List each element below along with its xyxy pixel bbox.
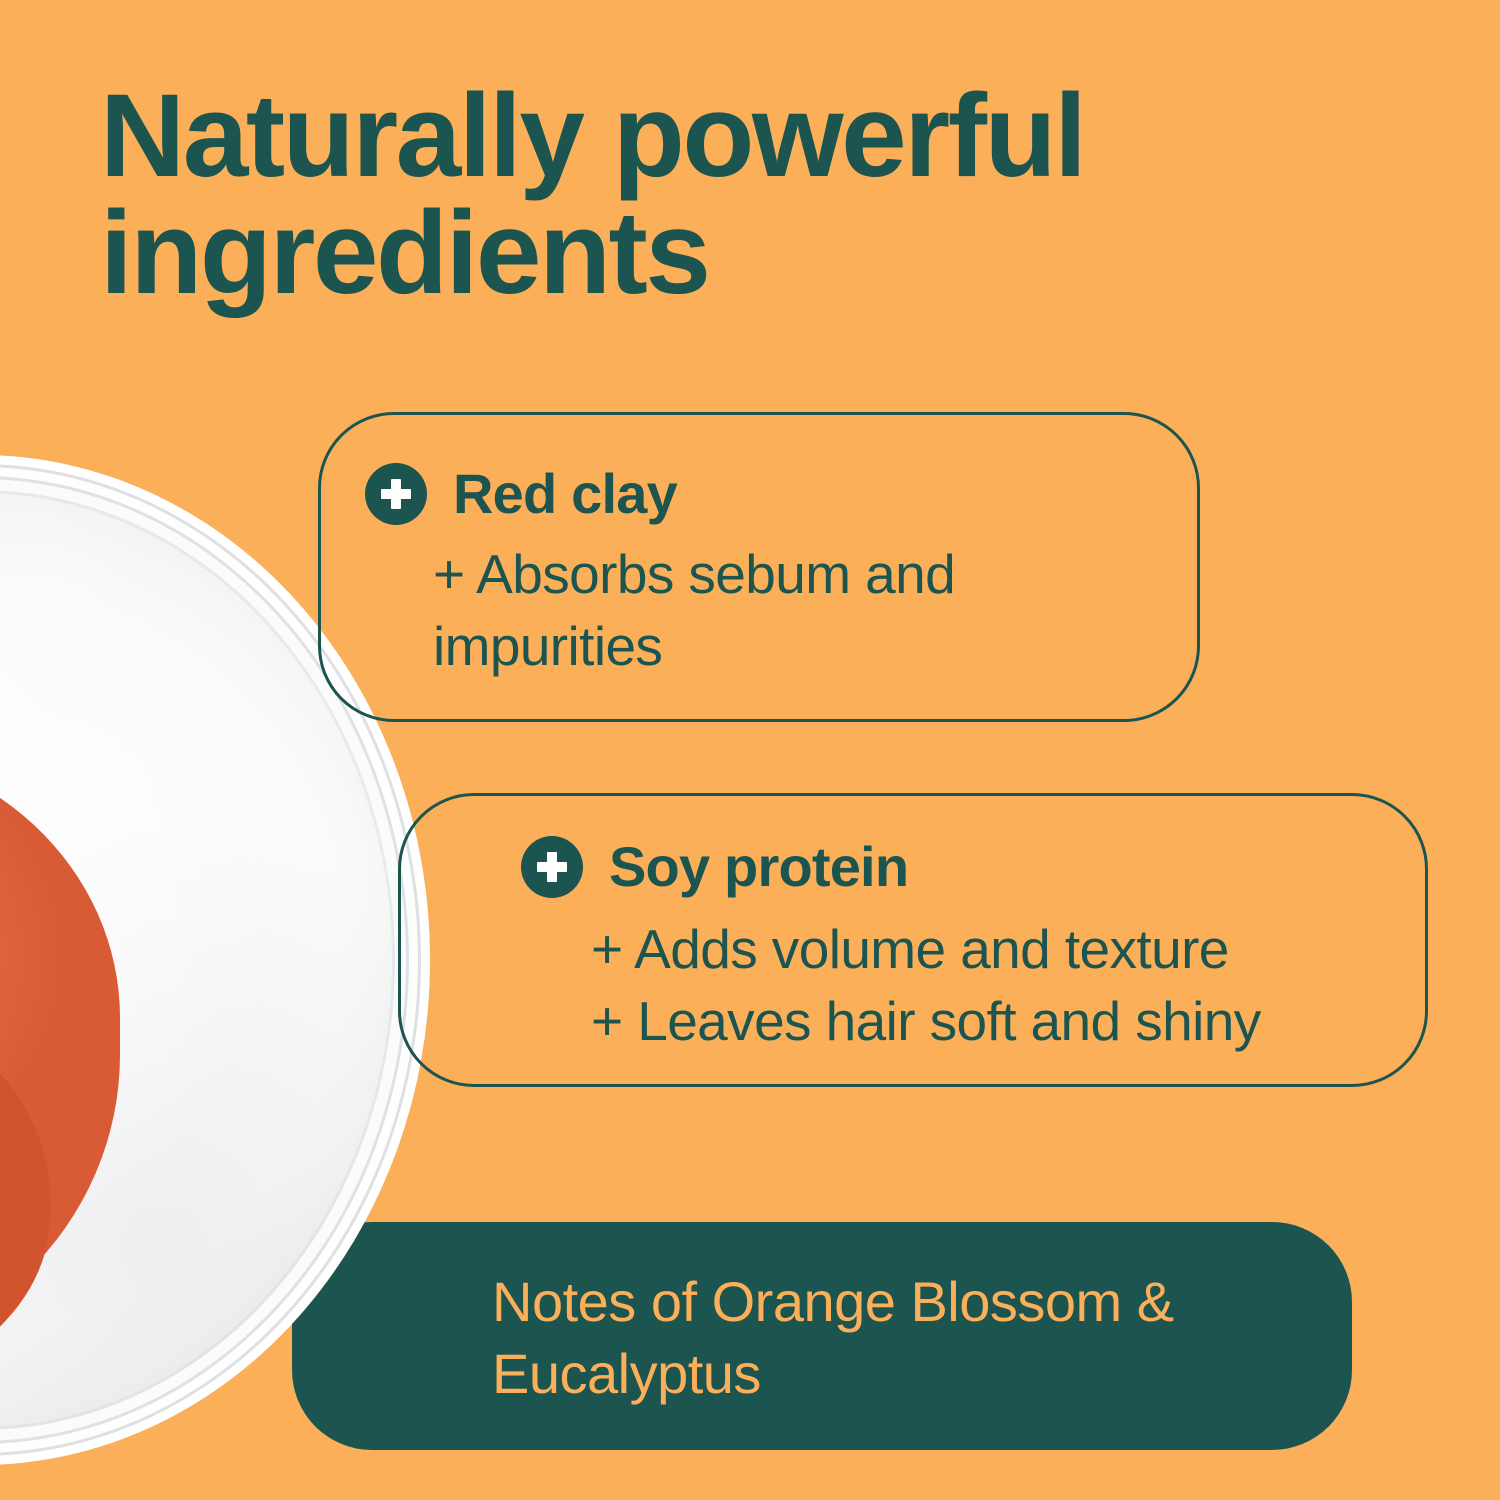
powder-texture <box>0 745 110 1385</box>
ingredient-name: Soy protein <box>609 839 908 895</box>
ingredient-card-red-clay: Red clay + Absorbs sebum and impurities <box>318 412 1200 722</box>
scent-banner-text: Notes of Orange Blossom & Eucalyptus <box>492 1266 1302 1409</box>
plus-icon <box>521 836 583 898</box>
ingredient-heading: Red clay <box>365 463 677 525</box>
ingredient-benefits: + Adds volume and texture + Leaves hair … <box>591 914 1421 1057</box>
ingredient-heading: Soy protein <box>521 836 908 898</box>
ingredients-infographic: Naturally powerful ingredients Notes of … <box>0 0 1500 1500</box>
ingredient-name: Red clay <box>453 466 677 522</box>
plus-icon <box>365 463 427 525</box>
ingredient-benefits: + Absorbs sebum and impurities <box>433 539 1173 682</box>
page-title: Naturally powerful ingredients <box>100 78 1300 312</box>
clay-powder-mound <box>0 745 210 1385</box>
scent-banner: Notes of Orange Blossom & Eucalyptus <box>292 1222 1352 1450</box>
ingredient-card-soy-protein: Soy protein + Adds volume and texture + … <box>398 793 1428 1087</box>
